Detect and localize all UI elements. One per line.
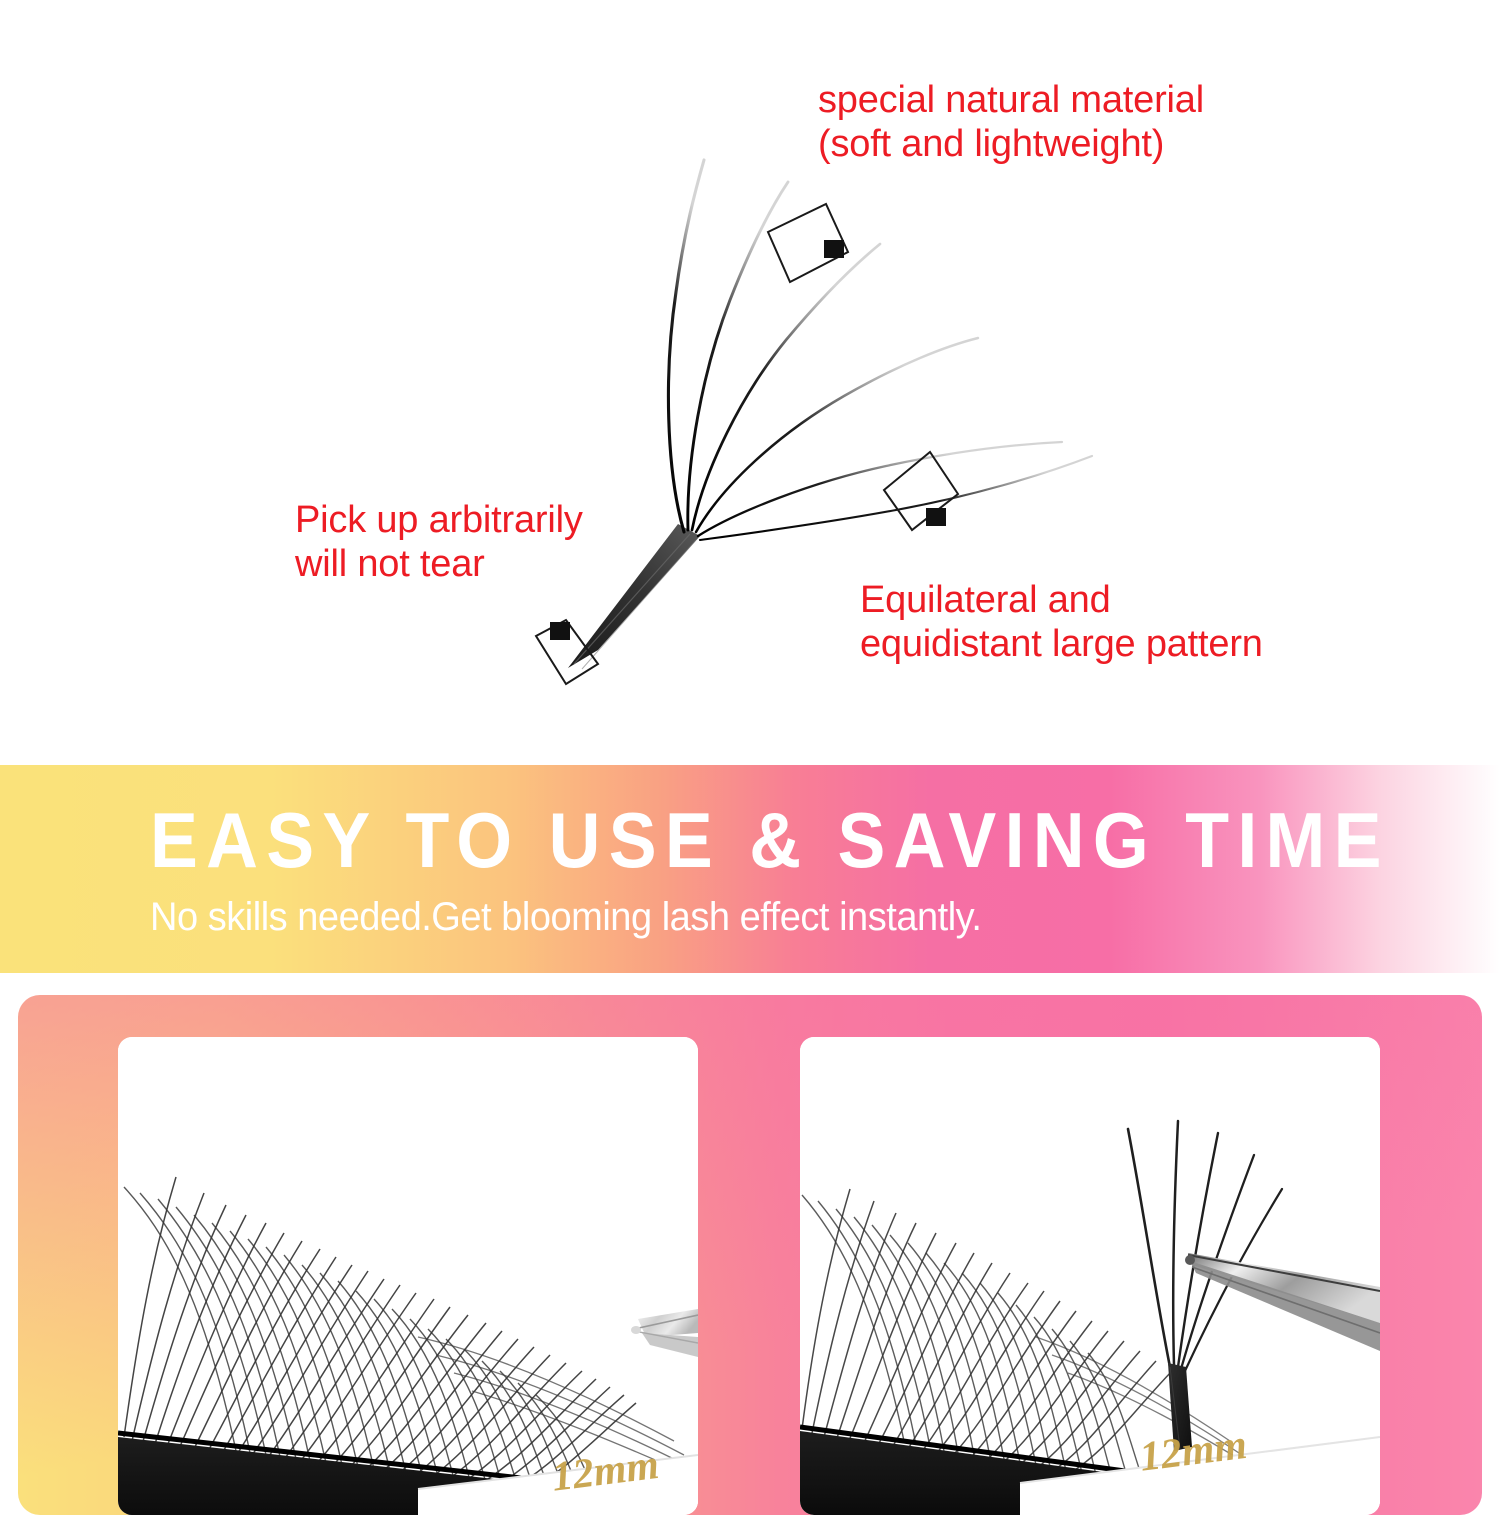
fan-base xyxy=(568,524,700,669)
photo-frame-gradient: 12mm xyxy=(18,995,1482,1515)
callout-equilateral-equidistant: Equilateral and equidistant large patter… xyxy=(860,578,1263,666)
banner-headline: EASY TO USE & SAVING TIME xyxy=(150,801,1392,879)
lash-fan-diagram-section: special natural material (soft and light… xyxy=(0,0,1500,765)
fan-strands xyxy=(668,160,1092,540)
annotation-marker-material xyxy=(768,204,848,282)
banner-subheadline: No skills needed.Get blooming lash effec… xyxy=(150,897,1433,937)
callout-special-natural-material: special natural material (soft and light… xyxy=(818,78,1204,166)
photo-lash-tray-with-tweezers: 12mm xyxy=(118,1037,698,1515)
lash-fan-illustration xyxy=(0,0,1500,765)
photo-lash-fan-lifted-by-tweezers: 12mm xyxy=(800,1037,1380,1515)
annotation-marker-base xyxy=(536,620,598,684)
feature-banner: EASY TO USE & SAVING TIME No skills need… xyxy=(0,765,1500,973)
callout-pick-up-arbitrarily: Pick up arbitrarily will not tear xyxy=(295,498,583,586)
product-photo-section: 12mm xyxy=(0,995,1500,1500)
